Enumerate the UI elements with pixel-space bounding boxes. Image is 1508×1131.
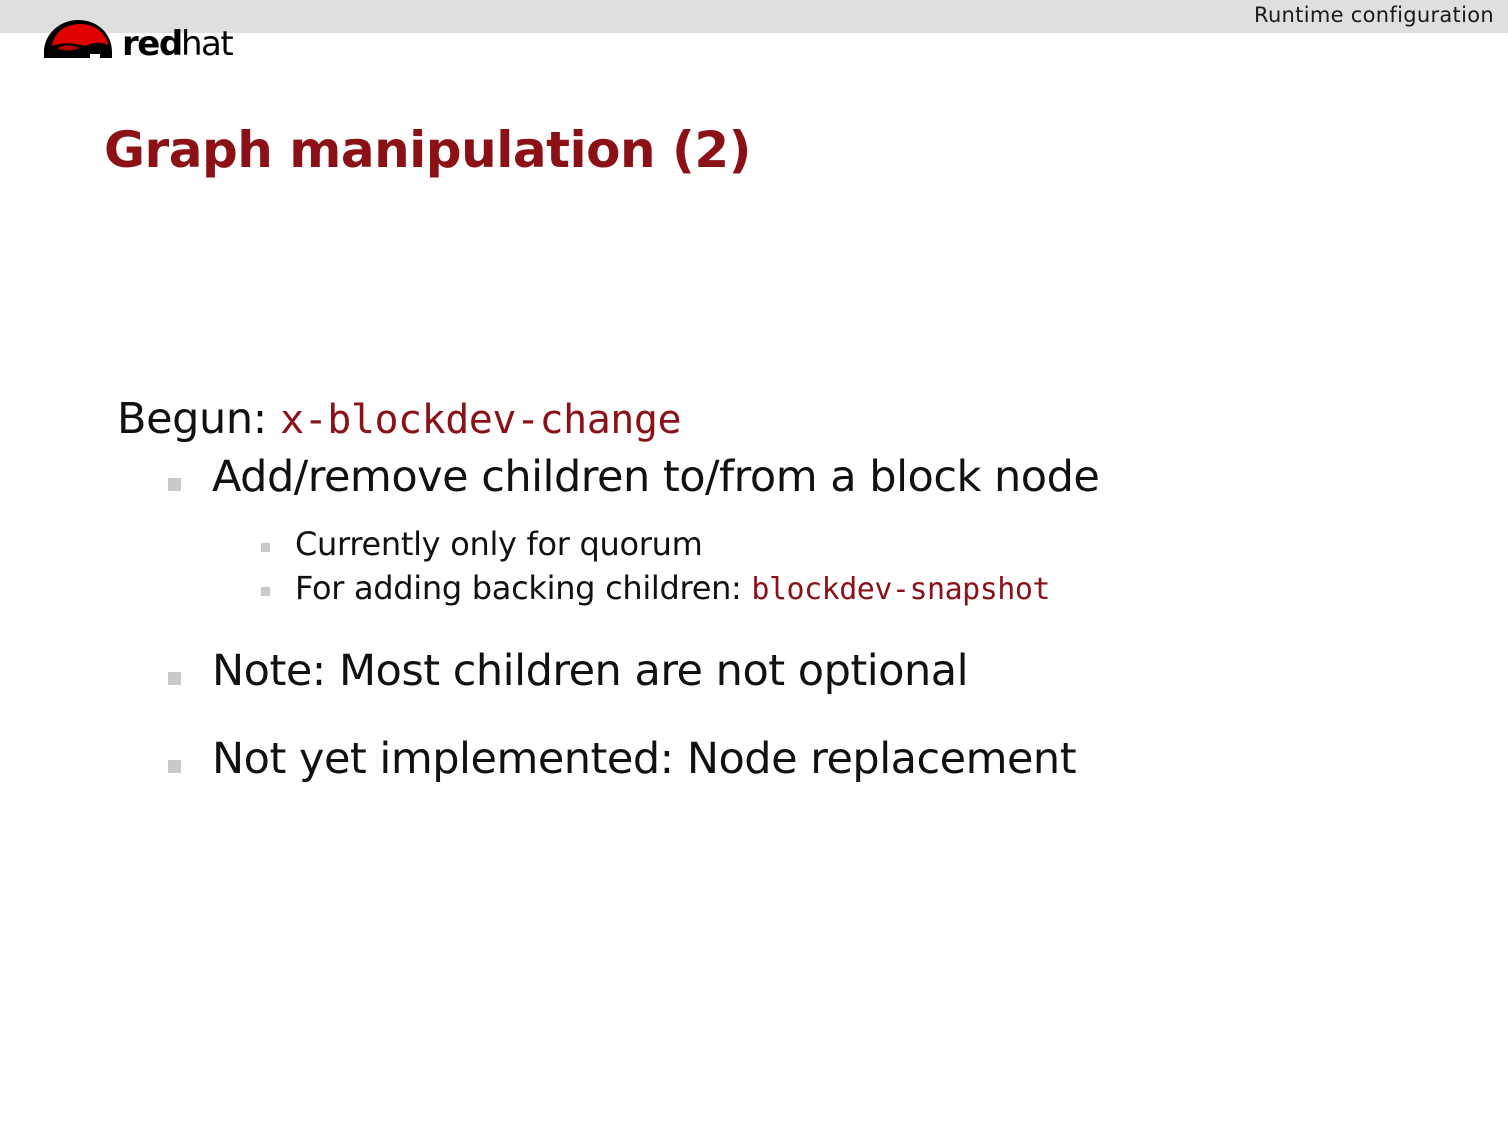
- page-title: Graph manipulation (2): [104, 124, 751, 177]
- list-item-label: Not yet implemented: Node replacement: [212, 734, 1076, 784]
- intro-label: Begun:: [117, 394, 267, 444]
- list-item: Note: Most children are not optional: [168, 650, 1508, 694]
- redhat-logo: red hat: [40, 12, 250, 70]
- list-item: Currently only for quorum: [261, 528, 1508, 561]
- slide: Runtime configuration red hat Graph mani…: [0, 0, 1508, 1131]
- list-item-label: Add/remove children to/from a block node: [212, 452, 1099, 502]
- list-item-label: Note: Most children are not optional: [212, 646, 968, 696]
- list-item: For adding backing children: blockdev-sn…: [261, 572, 1508, 606]
- shadowman-icon: [44, 20, 112, 58]
- list-item-label: For adding backing children:: [295, 569, 742, 607]
- list-item: Not yet implemented: Node replacement: [168, 738, 1508, 782]
- list-item-label: Currently only for quorum: [295, 525, 703, 563]
- code-blockdev-snapshot: blockdev-snapshot: [751, 572, 1050, 607]
- square-bullet-icon: [261, 543, 270, 552]
- logo-word-red: red: [122, 24, 182, 64]
- square-bullet-icon: [168, 478, 181, 491]
- square-bullet-icon: [168, 672, 181, 685]
- code-x-blockdev-change: x-blockdev-change: [280, 397, 681, 443]
- slide-body: Begun: x-blockdev-change Add/remove chil…: [0, 398, 1508, 782]
- square-bullet-icon: [261, 587, 270, 596]
- list-item: Add/remove children to/from a block node: [168, 456, 1508, 500]
- section-title: Runtime configuration: [1254, 3, 1494, 27]
- square-bullet-icon: [168, 760, 181, 773]
- logo-word-hat: hat: [181, 24, 233, 64]
- intro-line: Begun: x-blockdev-change: [117, 398, 1508, 442]
